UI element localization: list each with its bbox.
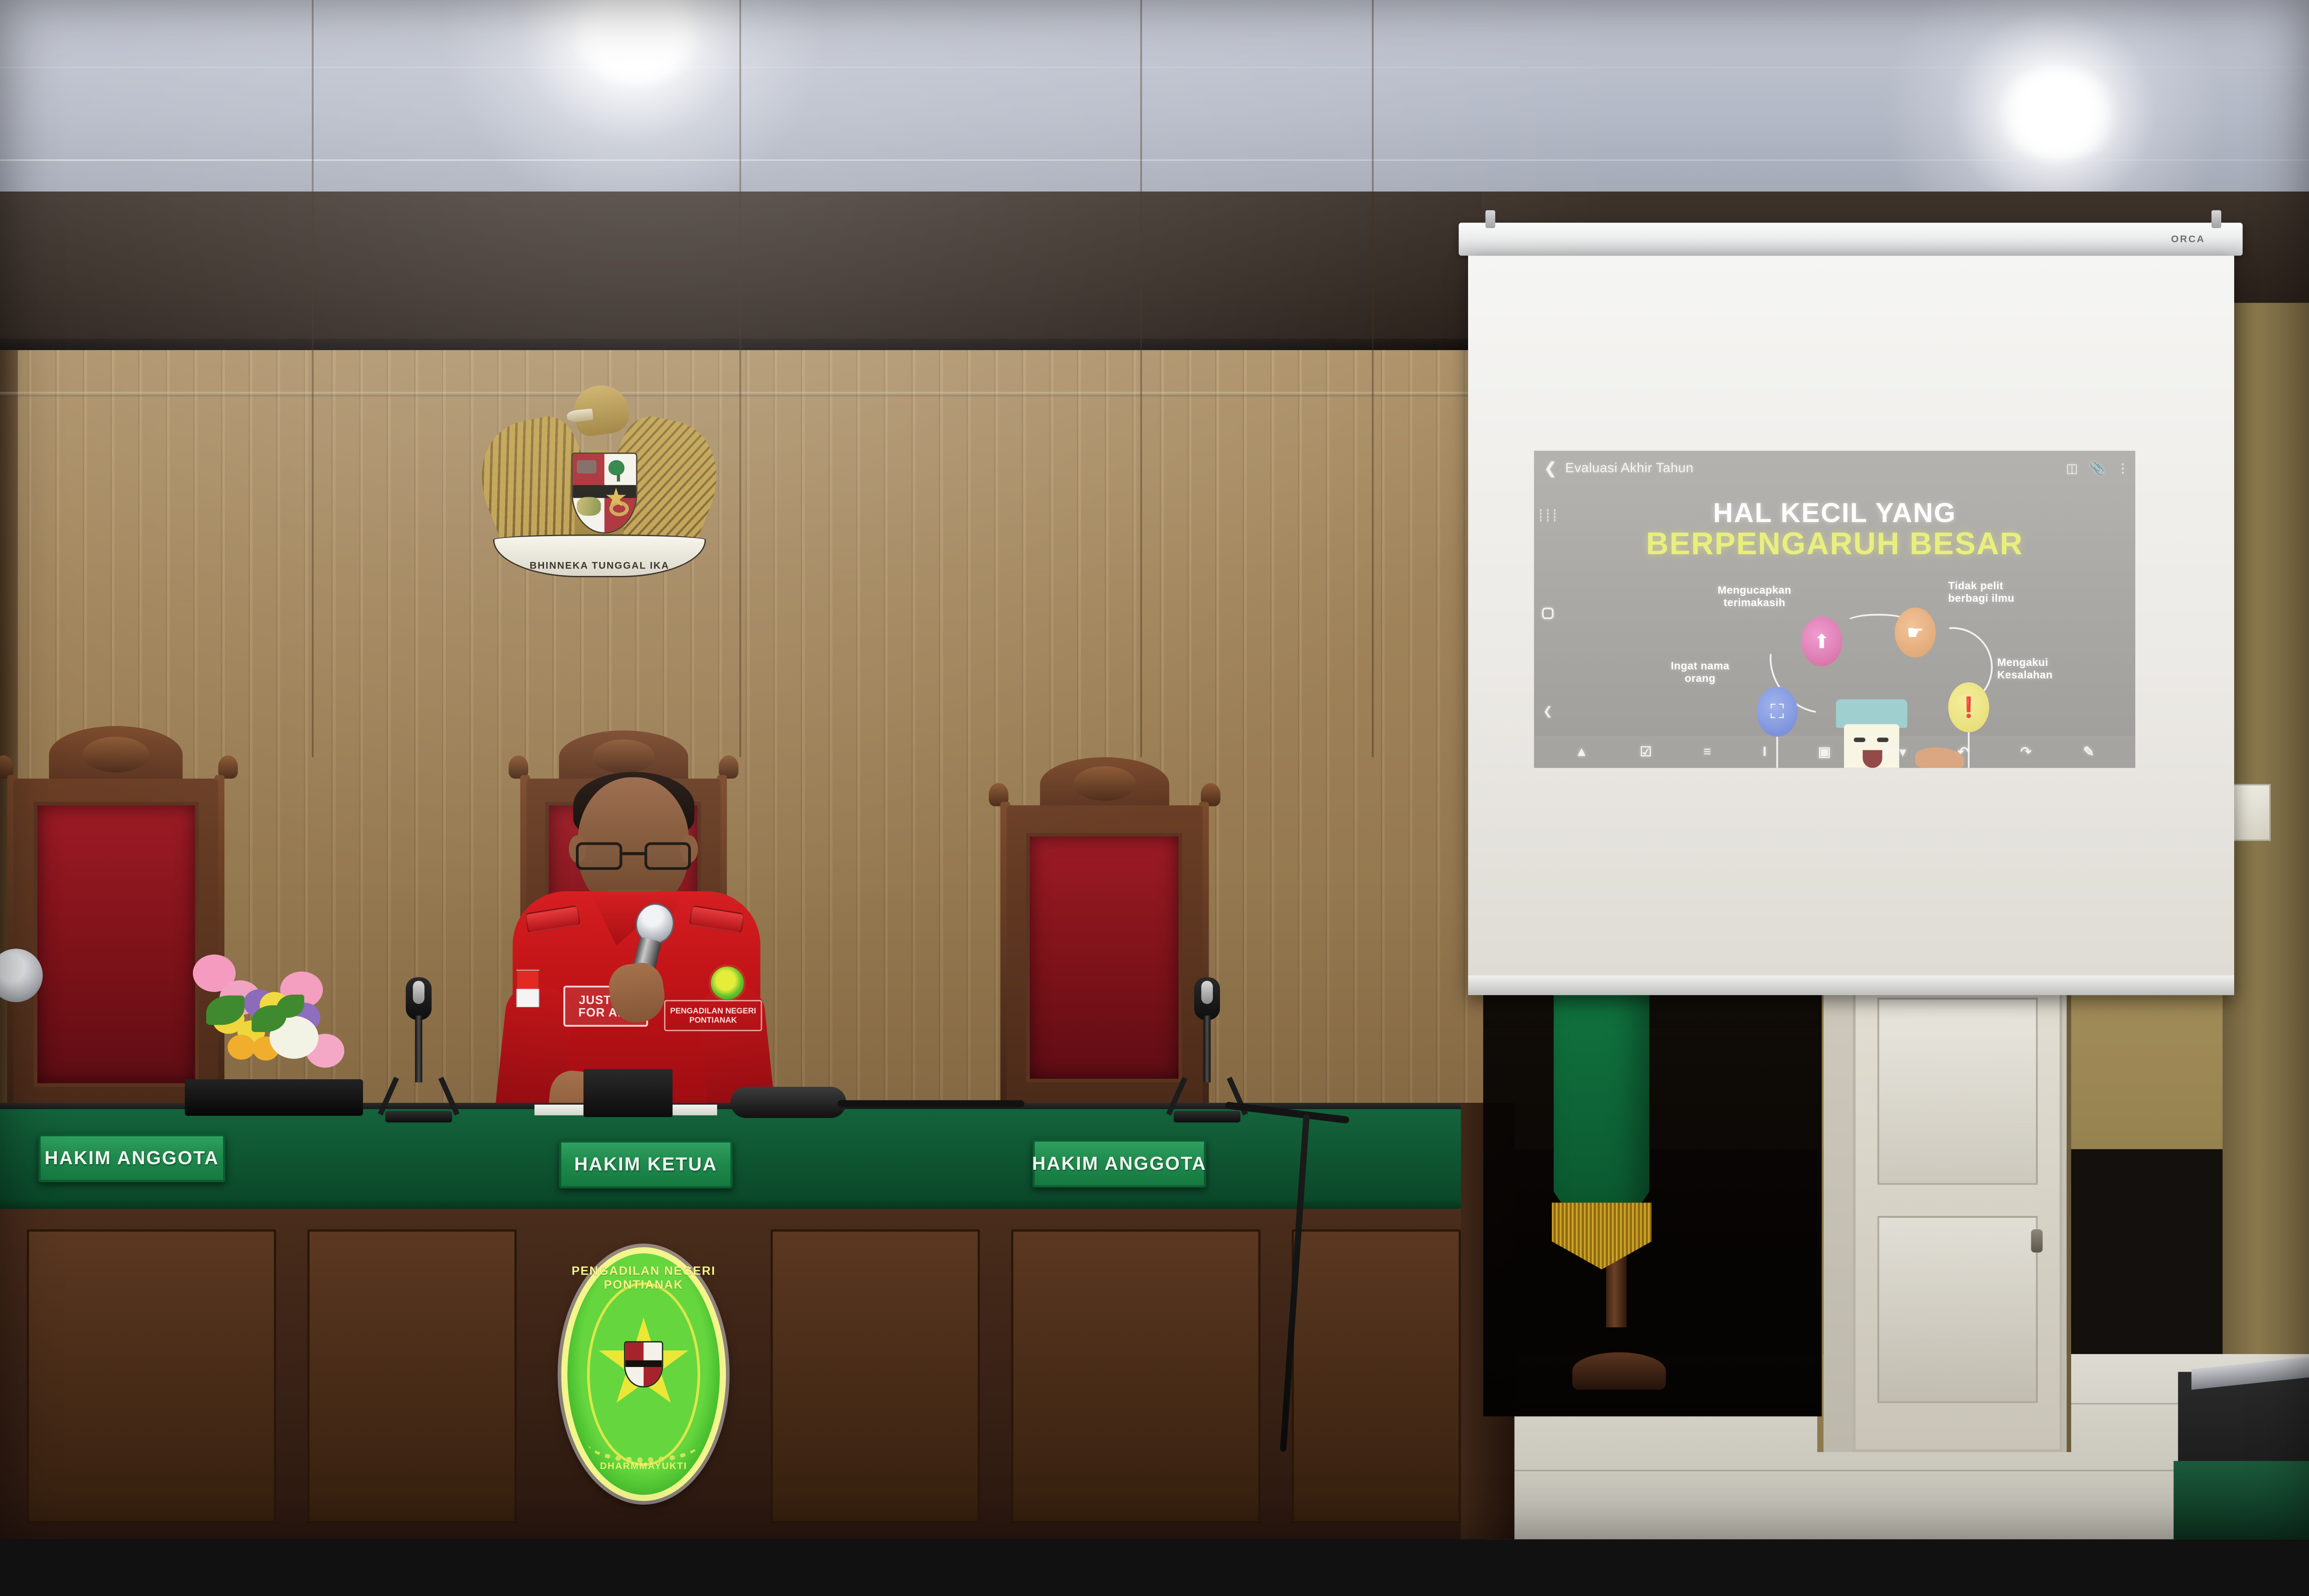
diagram-label-4: MengakuiKesalahan: [1997, 657, 2095, 682]
id-card-icon: ⛶: [1771, 701, 1784, 723]
seal-wreath: [588, 1424, 699, 1463]
character-hat: [1836, 699, 1907, 728]
diagram-node-ingat-nama-orang: ⛶: [1757, 687, 1798, 737]
projected-slide-image: ❮ Evaluasi Akhir Tahun ◫ 📎 ⋮ ┊┊┊ ❮ HAL K…: [1534, 451, 2135, 768]
bench-wood-panel: [27, 1229, 276, 1523]
microphone-base: [1173, 1111, 1240, 1122]
format-icon[interactable]: ▲: [1575, 744, 1588, 760]
photograph-scene: ★ BHINNEKA TUNGGAL IKA: [0, 0, 2309, 1539]
ceiling-light: [1995, 67, 2120, 161]
back-icon[interactable]: ❮: [1543, 704, 1553, 718]
pancasila-shield-icon: ★: [571, 453, 637, 534]
wood-trim: [0, 392, 1483, 397]
diagram-node-mengucapkan-terimakasih: ⬆: [1801, 617, 1842, 666]
national-motto-text: BHINNEKA TUNGGAL IKA: [530, 560, 670, 576]
chair-upholstery: [34, 802, 199, 1087]
presentation-view-icon[interactable]: ◫: [2066, 461, 2078, 476]
nameplate-hakim-anggota-left: HAKIM ANGGOTA: [38, 1134, 225, 1182]
chain-symbol: [577, 460, 596, 473]
flower-bloom: [228, 1035, 255, 1060]
chair-crest-medallion: [1073, 766, 1136, 801]
nameplate-hakim-ketua: HAKIM KETUA: [559, 1140, 732, 1188]
banyan-tree-symbol: [608, 460, 624, 475]
redo-icon[interactable]: ↷: [2020, 744, 2031, 760]
chair-crest-medallion: [82, 737, 149, 772]
desk-microphone-stand-left[interactable]: [383, 975, 454, 1122]
door-handle[interactable]: [2031, 1229, 2043, 1252]
speaker-person: JUSTICE FOR ALL PENGADILAN NEGERIPONTIAN…: [496, 777, 773, 1116]
ceiling-seam: [0, 67, 2309, 68]
court-name-patch: PENGADILAN NEGERIPONTIANAK: [664, 1000, 762, 1031]
seal-title-text: PENGADILAN NEGERI PONTIANAK: [568, 1264, 720, 1292]
upper-dark-wall: [0, 192, 1483, 345]
desk-microphone-stand-right[interactable]: [1172, 944, 1243, 1123]
garuda-pancasila-emblem: ★ BHINNEKA TUNGGAL IKA: [483, 361, 715, 583]
checkbox-icon[interactable]: ☑: [1640, 744, 1652, 760]
nameplate-label: HAKIM ANGGOTA: [45, 1148, 219, 1169]
share-icon: ☛: [1906, 621, 1924, 644]
text-style-icon[interactable]: I: [1763, 744, 1766, 760]
attachment-icon[interactable]: 📎: [2090, 461, 2105, 476]
nameplate-label: HAKIM KETUA: [574, 1154, 717, 1175]
app-top-bar: ❮ Evaluasi Akhir Tahun ◫ 📎 ⋮: [1534, 451, 2135, 485]
back-icon[interactable]: ❮: [1544, 460, 1557, 476]
up-arrow-icon: ⬆: [1813, 630, 1830, 653]
projection-screen-bottom-bar: [1468, 975, 2234, 995]
corner-green-surface: [2174, 1461, 2309, 1540]
ceiling-seam: [0, 159, 2309, 161]
nameplate-hakim-anggota-right: HAKIM ANGGOTA: [1033, 1139, 1206, 1187]
diagram-label-3: Ingat namaorang: [1653, 660, 1747, 685]
slide-title-line-2: BERPENGARUH BESAR: [1534, 526, 2135, 561]
diagram-label-1: Mengucapkanterimakasih: [1703, 584, 1806, 610]
microphone-pole: [415, 1016, 422, 1082]
bench-wood-panel: [1011, 1229, 1260, 1523]
eyeglasses: [576, 842, 691, 870]
edit-pen-icon[interactable]: ✎: [2083, 744, 2094, 760]
bench-wood-panel: [771, 1229, 980, 1523]
desk-electronic-box[interactable]: [584, 1069, 673, 1117]
right-pillar: [2223, 303, 2309, 1461]
wood-plank-seam: [312, 0, 314, 757]
microphone-pole: [1203, 1016, 1210, 1082]
bench-wood-panel: [308, 1229, 517, 1523]
slide-title-line-1: HAL KECIL YANG: [1534, 497, 2135, 528]
flag-stand-base: [1572, 1352, 1666, 1390]
overflow-menu-icon[interactable]: ⋮: [2116, 461, 2129, 476]
screen-mount-bracket: [1486, 210, 1495, 228]
court-seal-emblem: PENGADILAN NEGERI PONTIANAK DHARMMAYUKTI: [561, 1247, 726, 1501]
microphone-capsule-icon: [1194, 977, 1220, 1020]
flower-tray: [185, 1079, 363, 1116]
seal-shield-icon: [624, 1341, 663, 1387]
door-panel-inset: [1877, 997, 2037, 1185]
nameplate-label: HAKIM ANGGOTA: [1032, 1153, 1207, 1174]
diagram-node-mengakui-kesalahan: ❗: [1948, 683, 1989, 732]
app-bottom-toolbar: ▲ ☑ ≡ I ▣ 17 ▾ ↶ ↷ ✎: [1534, 736, 2135, 768]
chair-upholstery: [1026, 833, 1182, 1082]
top-bar-icon-group: ◫ 📎 ⋮: [2066, 461, 2129, 476]
wall-switch-plate[interactable]: [2231, 784, 2271, 841]
undo-icon[interactable]: ↶: [1958, 744, 1969, 760]
wood-plank-seam: [739, 0, 741, 757]
flower-arrangement: [185, 937, 363, 1116]
wood-plank-seam: [1372, 0, 1374, 757]
document-title: Evaluasi Akhir Tahun: [1565, 460, 1693, 476]
microphone-capsule-icon: [406, 977, 432, 1020]
microphone-lying-on-desk[interactable]: [731, 1087, 846, 1118]
projector-screen-housing: ORCA: [1459, 223, 2243, 255]
door-panel-inset: [1877, 1216, 2037, 1403]
wall-beam: [0, 339, 1483, 350]
desk-cable: [837, 1100, 1024, 1107]
chair-crest-medallion: [592, 739, 655, 773]
wood-plank-seam: [1140, 0, 1142, 757]
bench-wood-panel: [1292, 1229, 1461, 1523]
ceiling: [0, 0, 2309, 209]
diagram-label-2: Tidak pelitberbagi ilmu: [1948, 580, 2051, 605]
court-logo-badge-icon: [709, 964, 746, 1002]
national-motto-banner: BHINNEKA TUNGGAL IKA: [493, 534, 706, 577]
screen-brand-label: ORCA: [2171, 233, 2205, 245]
exclamation-icon: ❗: [1957, 696, 1981, 719]
screen-mount-bracket: [2212, 210, 2221, 228]
home-icon[interactable]: [1542, 608, 1553, 619]
rice-cotton-symbol: [577, 497, 601, 516]
indonesian-flag-patch-icon: [516, 970, 539, 1008]
microphone-base: [385, 1111, 452, 1122]
seal-motto-text: DHARMMAYUKTI: [568, 1461, 720, 1472]
bench-green-cloth: [0, 1109, 1514, 1207]
layout-icon[interactable]: ▣: [1818, 744, 1831, 760]
font-size-value[interactable]: 17 ▾: [1882, 744, 1906, 759]
align-icon[interactable]: ≡: [1704, 744, 1711, 760]
diagram-node-tidak-pelit-berbagi-ilmu: ☛: [1895, 608, 1936, 658]
